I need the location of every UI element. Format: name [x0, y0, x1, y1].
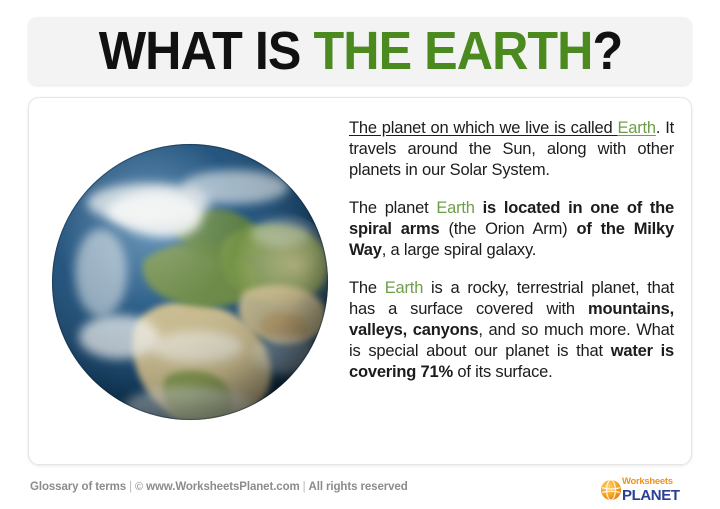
- p2-run-space: [475, 199, 483, 217]
- copyright-icon: ©: [135, 481, 143, 493]
- logo-wordmark: Worksheets PLANET: [622, 477, 680, 503]
- paragraph-3: The Earth is a rocky, terrestrial planet…: [349, 278, 674, 383]
- content-card: The planet on which we live is called Ea…: [28, 97, 692, 465]
- p2-run-orion: (the Orion Arm): [448, 220, 576, 238]
- globe-logo-icon: [600, 479, 622, 501]
- page-title-question-mark: ?: [592, 21, 622, 81]
- earth-globe-svg: [49, 141, 331, 423]
- footer-separator-2: |: [300, 481, 309, 493]
- page-title-part-green: THE EARTH: [313, 21, 592, 81]
- page-title: WHAT IS THE EARTH?: [98, 24, 622, 78]
- p3-run-earth: Earth: [385, 279, 423, 297]
- earth-globe-image: [49, 141, 331, 423]
- p3-run-1: The: [349, 279, 385, 297]
- footer-rights-label: All rights reserved: [309, 481, 408, 493]
- logo-bottom-word: PLANET: [622, 488, 680, 503]
- footer-glossary-label: Glossary of terms: [30, 481, 126, 493]
- paragraph-1: The planet on which we live is called Ea…: [349, 118, 674, 181]
- worksheets-planet-logo[interactable]: Worksheets PLANET: [600, 475, 696, 505]
- page-title-card: WHAT IS THE EARTH?: [28, 17, 692, 85]
- article-text-column: The planet on which we live is called Ea…: [349, 118, 674, 383]
- p1-run-underline: The planet on which we live is called: [349, 119, 617, 137]
- footer-website-link[interactable]: www.WorksheetsPlanet.com: [146, 481, 300, 493]
- p2-run-earth: Earth: [436, 199, 474, 217]
- paragraph-2: The planet Earth is located in one of th…: [349, 198, 674, 261]
- p2-run-1: The planet: [349, 199, 436, 217]
- p3-run-end: of its surface.: [453, 363, 553, 381]
- logo-top-word: Worksheets: [622, 477, 680, 487]
- p1-run-earth: Earth: [617, 119, 655, 137]
- page-title-part-1: WHAT IS: [98, 21, 313, 81]
- p2-run-end: , a large spiral galaxy.: [382, 241, 536, 259]
- footer-separator-1: |: [126, 481, 135, 493]
- footer: Glossary of terms|© www.WorksheetsPlanet…: [0, 472, 720, 509]
- footer-credits: Glossary of terms|© www.WorksheetsPlanet…: [30, 481, 408, 493]
